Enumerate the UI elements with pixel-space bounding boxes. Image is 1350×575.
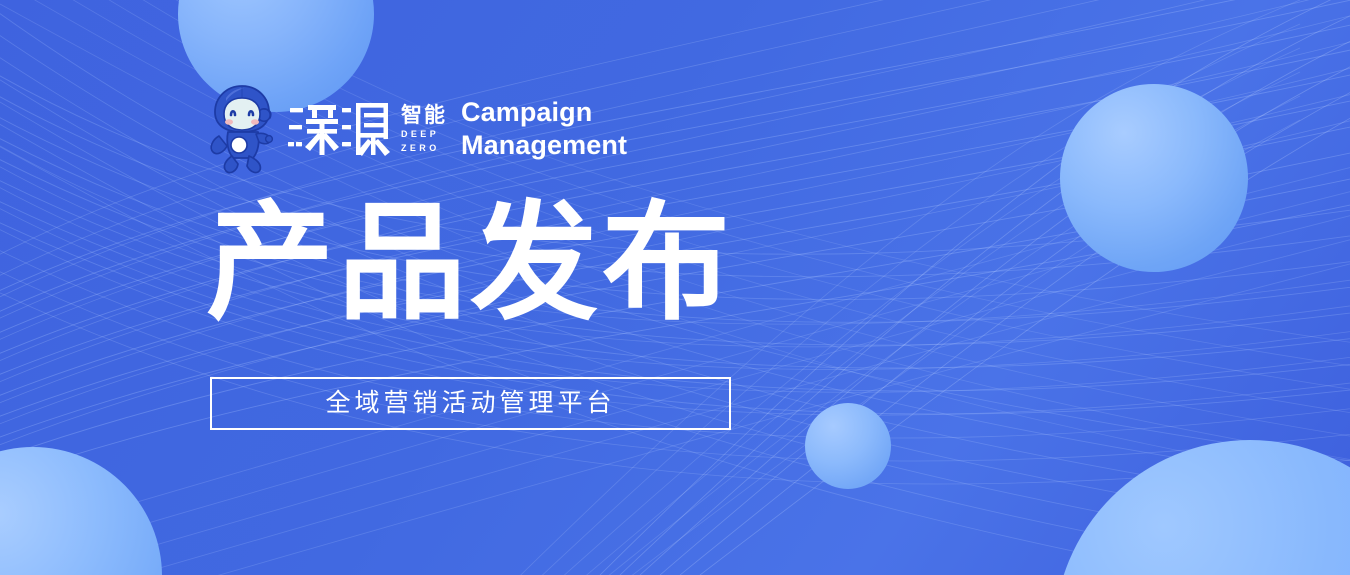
- brand-logo-lockup: 智能 DEEP ZERO Campaign Management: [206, 82, 627, 176]
- brand-en-small-line1: DEEP: [401, 128, 447, 140]
- subtitle-box: 全域营销活动管理平台: [210, 377, 731, 430]
- wordmark: 智能 DEEP ZERO Campaign Management: [288, 96, 627, 162]
- brand-zh-en-stack: 智能 DEEP ZERO: [401, 104, 447, 154]
- product-name-stack: Campaign Management: [461, 96, 627, 162]
- product-launch-banner: 智能 DEEP ZERO Campaign Management 产品发布 全域…: [0, 0, 1350, 575]
- brand-chinese-mark-shenyan: [288, 99, 392, 159]
- robot-mascot-icon: [206, 82, 278, 176]
- brand-en-small-line2: ZERO: [401, 142, 447, 154]
- brand-zh-label: 智能: [401, 105, 447, 126]
- product-name-line1: Campaign: [461, 96, 627, 129]
- page-title: 产品发布: [206, 196, 734, 332]
- banner-content: 智能 DEEP ZERO Campaign Management 产品发布 全域…: [0, 0, 1350, 575]
- product-name-line2: Management: [461, 129, 627, 162]
- subtitle-text: 全域营销活动管理平台: [325, 391, 615, 416]
